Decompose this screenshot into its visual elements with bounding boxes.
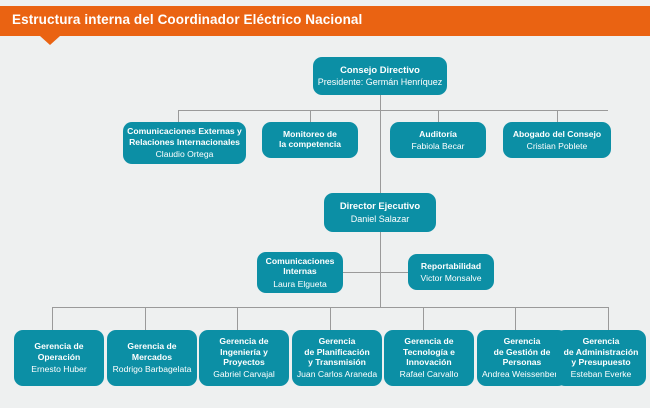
node-person: Juan Carlos Araneda xyxy=(297,369,377,379)
connector-staff-right-arm xyxy=(380,272,408,273)
node-person: Daniel Salazar xyxy=(351,214,410,225)
node-comunicaciones-externas[interactable]: Comunicaciones Externas y Relaciones Int… xyxy=(123,122,246,164)
node-reportabilidad[interactable]: Reportabilidad Victor Monsalve xyxy=(408,254,494,290)
node-title: Consejo Directivo xyxy=(340,64,420,75)
connector-director-spine xyxy=(380,232,381,307)
node-gerencia-operacion[interactable]: Gerencia de Operación Ernesto Huber xyxy=(14,330,104,386)
node-gerencia-personas[interactable]: Gerencia de Gestión de Personas Andrea W… xyxy=(477,330,567,386)
node-title: Gerencia de Planificación y Transmisión xyxy=(304,336,369,367)
node-gerencia-mercados[interactable]: Gerencia de Mercados Rodrigo Barbagelata xyxy=(107,330,197,386)
node-title: Gerencia de Operación xyxy=(34,341,83,362)
connector-level2-stub-1 xyxy=(178,110,179,122)
node-title: Monitoreo de la competencia xyxy=(279,129,341,150)
node-title: Comunicaciones Internas xyxy=(266,256,335,277)
connector-level2-stub-3 xyxy=(438,110,439,122)
node-person: Gabriel Carvajal xyxy=(213,369,275,379)
connector-level5-stub-6 xyxy=(515,307,516,330)
connector-spine-to-director xyxy=(380,110,381,193)
node-person: Esteban Everke xyxy=(571,369,632,379)
connector-level5-stub-4 xyxy=(330,307,331,330)
connector-level2-stub-4 xyxy=(557,110,558,122)
node-comunicaciones-internas[interactable]: Comunicaciones Internas Laura Elgueta xyxy=(257,252,343,293)
node-person: Victor Monsalve xyxy=(421,273,482,283)
node-person: Fabiola Becar xyxy=(411,141,464,151)
node-title: Director Ejecutivo xyxy=(340,200,420,211)
node-person: Cristian Poblete xyxy=(527,141,588,151)
node-abogado-consejo[interactable]: Abogado del Consejo Cristian Poblete xyxy=(503,122,611,158)
node-gerencia-ingenieria[interactable]: Gerencia de Ingeniería y Proyectos Gabri… xyxy=(199,330,289,386)
node-person: Rafael Carvallo xyxy=(400,369,459,379)
connector-level5-stub-2 xyxy=(145,307,146,330)
connector-level2-bus xyxy=(178,110,608,111)
node-person: Rodrigo Barbagelata xyxy=(113,364,192,374)
node-title: Reportabilidad xyxy=(421,261,481,271)
connector-level5-stub-5 xyxy=(423,307,424,330)
node-title: Comunicaciones Externas y Relaciones Int… xyxy=(127,126,242,147)
node-title: Gerencia de Ingeniería y Proyectos xyxy=(203,336,285,367)
node-person: Presidente: Germán Henríquez xyxy=(318,77,443,88)
connector-level5-stub-1 xyxy=(52,307,53,330)
node-title: Gerencia de Administración y Presupuesto xyxy=(564,336,639,367)
node-gerencia-administracion[interactable]: Gerencia de Administración y Presupuesto… xyxy=(556,330,646,386)
node-auditoria[interactable]: Auditoría Fabiola Becar xyxy=(390,122,486,158)
node-person: Laura Elgueta xyxy=(273,279,327,289)
org-chart-page: Estructura interna del Coordinador Eléct… xyxy=(0,0,650,408)
page-title: Estructura interna del Coordinador Eléct… xyxy=(12,12,362,27)
node-title: Gerencia de Mercados xyxy=(127,341,176,362)
node-person: Andrea Weissenberg xyxy=(482,369,562,379)
connector-consejo-drop xyxy=(380,95,381,110)
node-gerencia-planificacion[interactable]: Gerencia de Planificación y Transmisión … xyxy=(292,330,382,386)
node-title: Abogado del Consejo xyxy=(513,129,601,139)
connector-staff-left-arm xyxy=(343,272,381,273)
header-notch-icon xyxy=(40,36,60,45)
node-title: Gerencia de Gestión de Personas xyxy=(494,336,551,367)
connector-level5-stub-3 xyxy=(237,307,238,330)
node-consejo-directivo[interactable]: Consejo Directivo Presidente: Germán Hen… xyxy=(313,57,447,95)
node-gerencia-tecnologia[interactable]: Gerencia de Tecnología e Innovación Rafa… xyxy=(384,330,474,386)
node-title: Gerencia de Tecnología e Innovación xyxy=(403,336,455,367)
node-title: Auditoría xyxy=(419,129,457,139)
node-person: Ernesto Huber xyxy=(31,364,86,374)
connector-level5-stub-7 xyxy=(608,307,609,330)
node-person: Claudio Ortega xyxy=(156,149,214,159)
node-monitoreo-competencia[interactable]: Monitoreo de la competencia xyxy=(262,122,358,158)
node-director-ejecutivo[interactable]: Director Ejecutivo Daniel Salazar xyxy=(324,193,436,232)
connector-level2-stub-2 xyxy=(310,110,311,122)
